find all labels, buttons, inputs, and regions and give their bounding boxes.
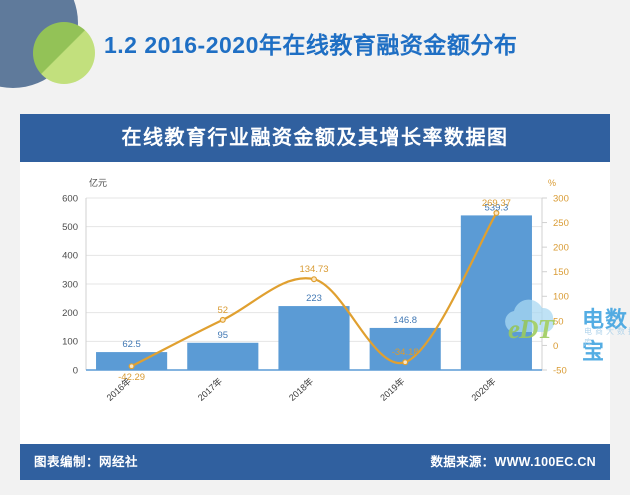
chart-title: 在线教育行业融资金额及其增长率数据图 (20, 114, 610, 162)
svg-text:100: 100 (553, 292, 569, 303)
page-title: 1.2 2016-2020年在线教育融资金额分布 (104, 26, 517, 60)
svg-text:200: 200 (553, 243, 569, 254)
svg-text:0: 0 (553, 341, 558, 352)
bar-value-label: 146.8 (393, 315, 417, 326)
svg-text:150: 150 (553, 267, 569, 278)
svg-text:250: 250 (553, 218, 569, 229)
svg-text:500: 500 (62, 222, 78, 233)
bar-value-label: 95 (218, 330, 229, 341)
footer-source: 数据来源：WWW.100EC.CN (430, 444, 596, 480)
svg-text:-50: -50 (553, 365, 567, 376)
svg-text:200: 200 (62, 308, 78, 319)
chart-card-header: 在线教育行业融资金额及其增长率数据图 (20, 114, 610, 162)
slide-header: 1.2 2016-2020年在线教育融资金额分布 (0, 0, 630, 100)
chart-plot-area: 亿元%0100200300400500600-50050100150200250… (20, 162, 610, 444)
bar-value-label: 62.5 (122, 339, 141, 350)
svg-text:300: 300 (62, 279, 78, 290)
svg-text:%: % (548, 178, 556, 188)
x-axis-label: 2017年 (195, 375, 224, 403)
x-axis-label: 2019年 (378, 375, 407, 403)
footer-credit: 图表编制：网经社 (34, 444, 138, 480)
combo-chart: 亿元%0100200300400500600-50050100150200250… (20, 162, 610, 444)
line-value-label: 269.37 (482, 198, 511, 209)
chart-card: 在线教育行业融资金额及其增长率数据图 亿元%010020030040050060… (20, 114, 610, 480)
x-axis-label: 2018年 (286, 375, 315, 403)
x-axis-label: 2020年 (469, 375, 498, 403)
line-value-label: 52 (218, 305, 229, 316)
chart-card-footer: 图表编制：网经社 数据来源：WWW.100EC.CN (20, 444, 610, 480)
svg-text:亿元: 亿元 (89, 177, 107, 188)
svg-text:100: 100 (62, 337, 78, 348)
svg-text:400: 400 (62, 251, 78, 262)
line-value-label: -34.18 (392, 347, 419, 358)
svg-text:0: 0 (73, 365, 78, 376)
bar-value-label: 223 (306, 293, 322, 304)
svg-text:50: 50 (553, 316, 564, 327)
decorative-circle-green (33, 22, 95, 84)
svg-text:600: 600 (62, 193, 78, 204)
line-value-label: 134.73 (299, 264, 328, 275)
svg-text:300: 300 (553, 193, 569, 204)
